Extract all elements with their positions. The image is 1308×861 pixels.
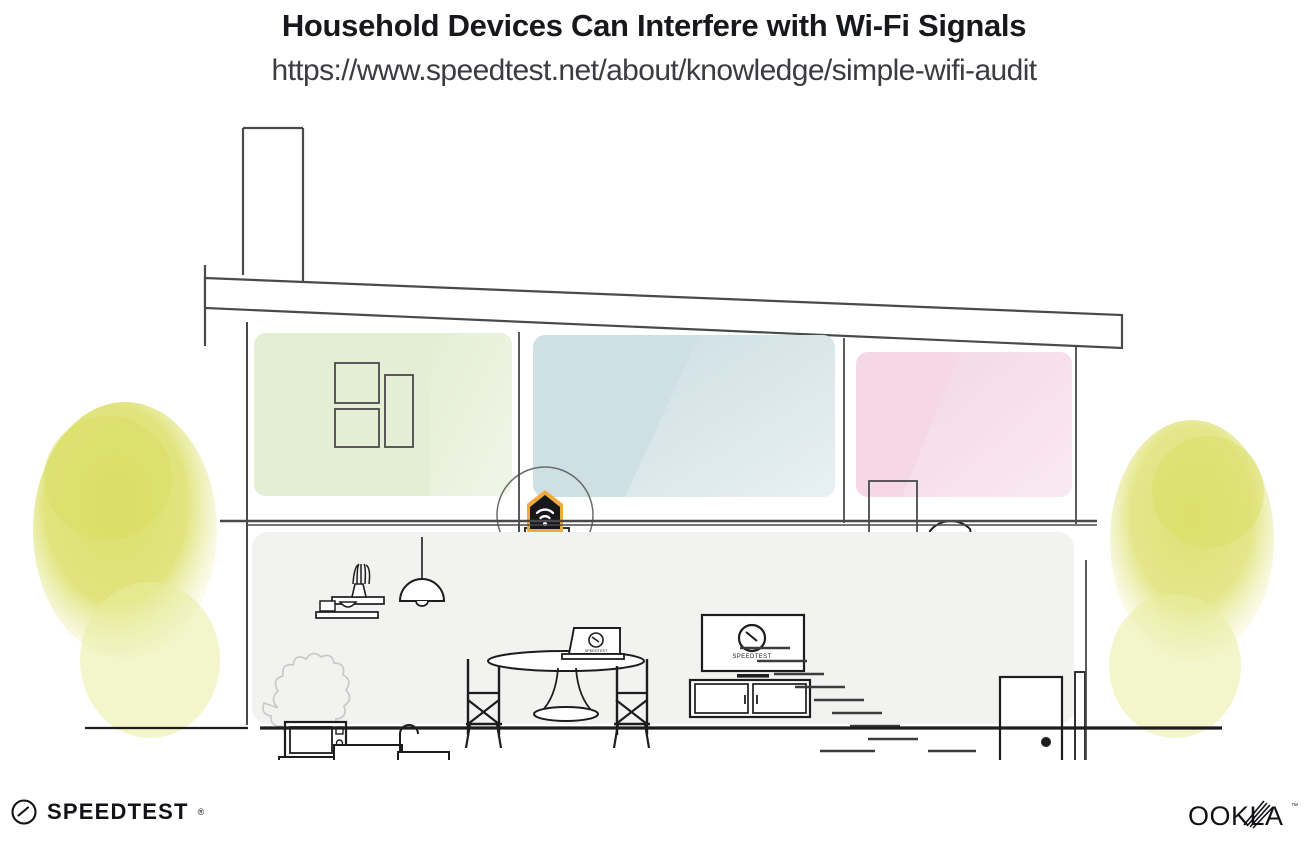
ookla-logo: OOKLA ™ <box>1188 795 1300 839</box>
tree-right <box>1109 420 1274 738</box>
room-living-kitchen: SPEEDTEST SPEEDTES <box>252 532 1086 760</box>
tree-left <box>33 402 220 738</box>
door-sidelight <box>1075 560 1086 760</box>
brand-trademark: ® <box>198 807 205 817</box>
house-cutaway-illustration: SPEEDTEST <box>0 100 1308 760</box>
door-knob[interactable] <box>1041 737 1051 747</box>
tv-screen-label: SPEEDTEST <box>732 654 771 660</box>
laptop-screen-label: SPEEDTEST <box>585 649 608 653</box>
television[interactable]: SPEEDTEST <box>702 615 804 678</box>
media-console <box>690 680 810 717</box>
ookla-brand: OOKLA ™ <box>1188 795 1300 844</box>
speedtest-gauge-icon <box>10 798 38 826</box>
page-title: Household Devices Can Interfere with Wi-… <box>0 8 1308 44</box>
speedtest-brand: SPEEDTEST ® <box>10 798 204 826</box>
source-url: https://www.speedtest.net/about/knowledg… <box>0 54 1308 88</box>
front-door[interactable] <box>1000 677 1062 760</box>
brand-name: SPEEDTEST <box>47 799 189 825</box>
ookla-trademark: ™ <box>1291 803 1298 810</box>
chimney <box>243 128 303 282</box>
infographic-canvas: Household Devices Can Interfere with Wi-… <box>0 0 1308 861</box>
